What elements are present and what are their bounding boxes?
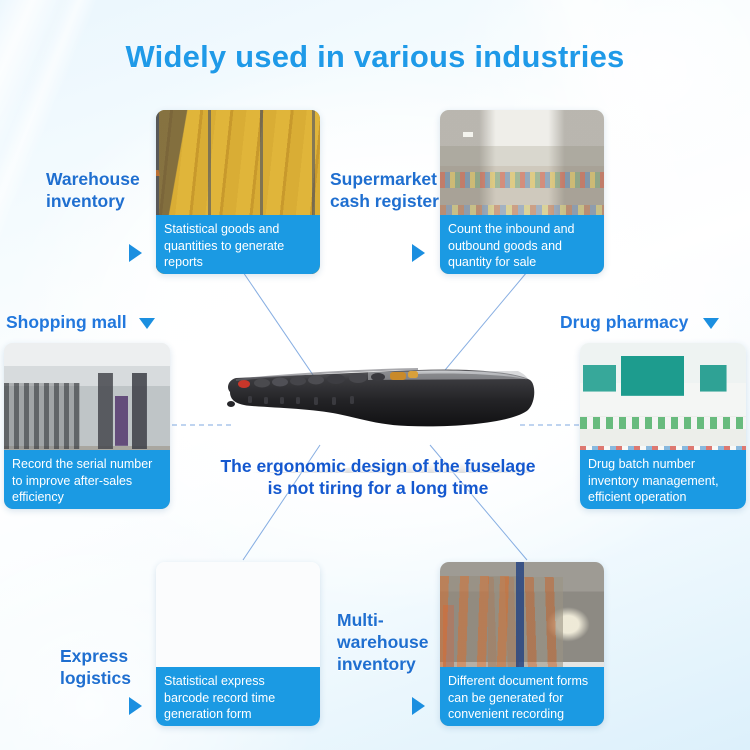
card-caption-supermarket: Count the inbound and outbound goods and… bbox=[440, 215, 604, 274]
label-line: logistics bbox=[60, 667, 170, 689]
card-supermarket-cash-register[interactable]: Count the inbound and outbound goods and… bbox=[440, 110, 604, 274]
card-caption-warehouse: Statistical goods and quantities to gene… bbox=[156, 215, 320, 274]
label-line: Warehouse bbox=[46, 168, 166, 190]
page-title: Widely used in various industries bbox=[0, 39, 750, 75]
device-caption-line1: The ergonomic design of the fuselage bbox=[178, 455, 578, 477]
label-line: Shopping mall bbox=[6, 312, 127, 332]
label-shopping-mall: Shopping mall bbox=[6, 311, 127, 333]
triangle-down-icon-shopping-mall bbox=[139, 318, 155, 329]
triangle-right-icon-warehouse bbox=[129, 244, 142, 262]
label-line: warehouse bbox=[337, 631, 447, 653]
label-line: inventory bbox=[337, 653, 447, 675]
device-caption-line2: is not tiring for a long time bbox=[178, 477, 578, 499]
label-express-logistics: Express logistics bbox=[60, 645, 170, 689]
card-warehouse-inventory[interactable]: Statistical goods and quantities to gene… bbox=[156, 110, 320, 274]
card-caption-multi-warehouse: Different document forms can be generate… bbox=[440, 667, 604, 726]
device-caption: The ergonomic design of the fuselage is … bbox=[178, 455, 578, 499]
triangle-right-icon-supermarket bbox=[412, 244, 425, 262]
label-multi-warehouse-inventory: Multi- warehouse inventory bbox=[337, 609, 447, 675]
label-warehouse-inventory: Warehouse inventory bbox=[46, 168, 166, 212]
card-multi-warehouse-inventory[interactable]: Different document forms can be generate… bbox=[440, 562, 604, 726]
triangle-right-icon-multi-warehouse bbox=[412, 697, 425, 715]
label-line: inventory bbox=[46, 190, 166, 212]
card-caption-shopping-mall: Record the serial number to improve afte… bbox=[4, 450, 170, 509]
card-shopping-mall[interactable]: Record the serial number to improve afte… bbox=[4, 343, 170, 509]
triangle-down-icon-drug-pharmacy bbox=[703, 318, 719, 329]
card-express-logistics[interactable]: Statistical express barcode record time … bbox=[156, 562, 320, 726]
card-caption-drug-pharmacy: Drug batch number inventory management, … bbox=[580, 450, 746, 509]
label-line: Multi- bbox=[337, 609, 447, 631]
label-drug-pharmacy: Drug pharmacy bbox=[560, 311, 688, 333]
label-line: Express bbox=[60, 645, 170, 667]
promo-banner: Widely used in various industries Wareho… bbox=[0, 0, 750, 750]
card-drug-pharmacy[interactable]: Drug batch number inventory management, … bbox=[580, 343, 746, 509]
card-caption-express-logistics: Statistical express barcode record time … bbox=[156, 667, 320, 726]
label-line: Drug pharmacy bbox=[560, 312, 688, 332]
triangle-right-icon-express bbox=[129, 697, 142, 715]
